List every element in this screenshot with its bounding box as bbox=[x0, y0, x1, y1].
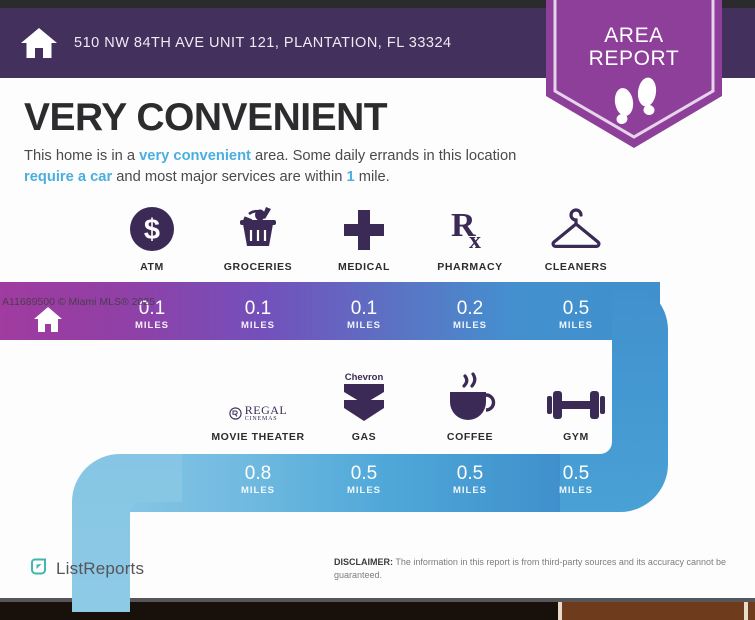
description-highlight: require a car bbox=[24, 169, 112, 185]
distance-value: 0.5 bbox=[523, 298, 629, 319]
amenity-label: GYM bbox=[563, 431, 589, 443]
chevron-logo: Chevron bbox=[342, 370, 386, 422]
distance-unit: MILES bbox=[311, 320, 417, 331]
page-title: VERY CONVENIENT bbox=[24, 96, 387, 140]
amenity-label: COFFEE bbox=[447, 431, 493, 443]
badge-line-1: AREA bbox=[546, 24, 722, 47]
medical-cross-icon bbox=[342, 200, 386, 252]
regal-brand-line-2: CINEMAS bbox=[245, 416, 288, 422]
disclaimer-text: The information in this report is from t… bbox=[334, 557, 726, 580]
dollar-circle-icon: $ bbox=[129, 200, 175, 252]
listreports-house-pin-icon bbox=[28, 556, 49, 582]
distance-cell: 0.1 MILES bbox=[311, 298, 417, 331]
badge-line-2: REPORT bbox=[546, 47, 722, 70]
distance-values-row-1: 0.1 MILES 0.1 MILES 0.1 MILES 0.2 MILES … bbox=[99, 298, 664, 331]
listreports-name: ListReports bbox=[56, 559, 144, 579]
amenity-label: ATM bbox=[140, 261, 164, 273]
svg-text:x: x bbox=[469, 228, 481, 252]
distance-value: 0.2 bbox=[417, 298, 523, 319]
home-icon bbox=[20, 26, 58, 60]
regal-brand-line-1: REGAL bbox=[245, 404, 288, 416]
area-report-badge: AREA REPORT bbox=[546, 0, 722, 148]
distance-cell: 0.5 MILES bbox=[523, 298, 629, 331]
badge-text: AREA REPORT bbox=[546, 24, 722, 70]
amenity-pharmacy: R x PHARMACY bbox=[417, 200, 523, 273]
distance-cell: 0.8 MILES bbox=[205, 463, 311, 496]
page-description: This home is in a very convenient area. … bbox=[24, 146, 544, 188]
regal-cinemas-logo: REGAL CINEMAS bbox=[229, 370, 288, 422]
distance-value: 0.1 bbox=[311, 298, 417, 319]
distance-values-row-2: 0.8 MILES 0.5 MILES 0.5 MILES 0.5 MILES bbox=[205, 463, 665, 496]
amenity-label: MOVIE THEATER bbox=[211, 431, 304, 443]
distance-cell: 0.5 MILES bbox=[417, 463, 523, 496]
description-text: This home is in a bbox=[24, 148, 139, 164]
shopping-basket-icon bbox=[233, 200, 283, 252]
coffee-cup-icon bbox=[444, 370, 496, 422]
amenity-icon-row-2: REGAL CINEMAS MOVIE THEATER Chevron GAS bbox=[205, 370, 665, 443]
amenity-atm: $ ATM bbox=[99, 200, 205, 273]
disclaimer: DISCLAIMER: The information in this repo… bbox=[334, 556, 744, 581]
amenity-label: PHARMACY bbox=[437, 261, 502, 273]
distance-unit: MILES bbox=[417, 320, 523, 331]
dumbbell-icon bbox=[547, 370, 605, 422]
distance-unit: MILES bbox=[523, 485, 629, 496]
amenity-gym: GYM bbox=[523, 370, 629, 443]
amenity-movie-theater: REGAL CINEMAS MOVIE THEATER bbox=[205, 370, 311, 443]
amenity-gas: Chevron GAS bbox=[311, 370, 417, 443]
amenity-label: CLEANERS bbox=[545, 261, 608, 273]
mls-watermark: A11689500 © Miami MLS® 2025 bbox=[2, 296, 155, 308]
distance-cell: 0.5 MILES bbox=[311, 463, 417, 496]
amenity-groceries: GROCERIES bbox=[205, 200, 311, 273]
distance-cell: 0.5 MILES bbox=[523, 463, 629, 496]
description-text: area. Some daily errands in this locatio… bbox=[251, 148, 516, 164]
distance-unit: MILES bbox=[99, 320, 205, 331]
amenity-cleaners: CLEANERS bbox=[523, 200, 629, 273]
description-text: and most major services are within bbox=[112, 169, 346, 185]
amenity-coffee: COFFEE bbox=[417, 370, 523, 443]
clothes-hanger-icon bbox=[548, 200, 604, 252]
disclaimer-label: DISCLAIMER: bbox=[334, 557, 393, 567]
chevron-wordmark: Chevron bbox=[345, 372, 384, 383]
home-marker-icon bbox=[33, 306, 63, 333]
description-highlight: 1 bbox=[346, 169, 354, 185]
distance-value: 0.8 bbox=[205, 463, 311, 484]
property-address: 510 NW 84TH AVE UNIT 121, PLANTATION, FL… bbox=[74, 35, 452, 51]
svg-text:$: $ bbox=[144, 214, 160, 246]
amenity-icon-row-1: $ ATM bbox=[99, 200, 664, 273]
distance-value: 0.5 bbox=[417, 463, 523, 484]
rx-icon: R x bbox=[447, 200, 493, 252]
distance-unit: MILES bbox=[417, 485, 523, 496]
distance-unit: MILES bbox=[205, 485, 311, 496]
listreports-logo: ListReports bbox=[28, 556, 144, 582]
distance-value: 0.1 bbox=[205, 298, 311, 319]
amenity-label: GROCERIES bbox=[224, 261, 292, 273]
description-highlight: very convenient bbox=[139, 148, 251, 164]
amenity-medical: MEDICAL bbox=[311, 200, 417, 273]
amenity-label: GAS bbox=[352, 431, 377, 443]
distance-value: 0.5 bbox=[311, 463, 417, 484]
area-report-page: 510 NW 84TH AVE UNIT 121, PLANTATION, FL… bbox=[0, 0, 755, 620]
distance-unit: MILES bbox=[205, 320, 311, 331]
distance-value: 0.5 bbox=[523, 463, 629, 484]
distance-unit: MILES bbox=[311, 485, 417, 496]
distance-cell: 0.1 MILES bbox=[205, 298, 311, 331]
distance-unit: MILES bbox=[523, 320, 629, 331]
amenity-label: MEDICAL bbox=[338, 261, 390, 273]
distance-cell: 0.2 MILES bbox=[417, 298, 523, 331]
description-text: mile. bbox=[355, 169, 390, 185]
